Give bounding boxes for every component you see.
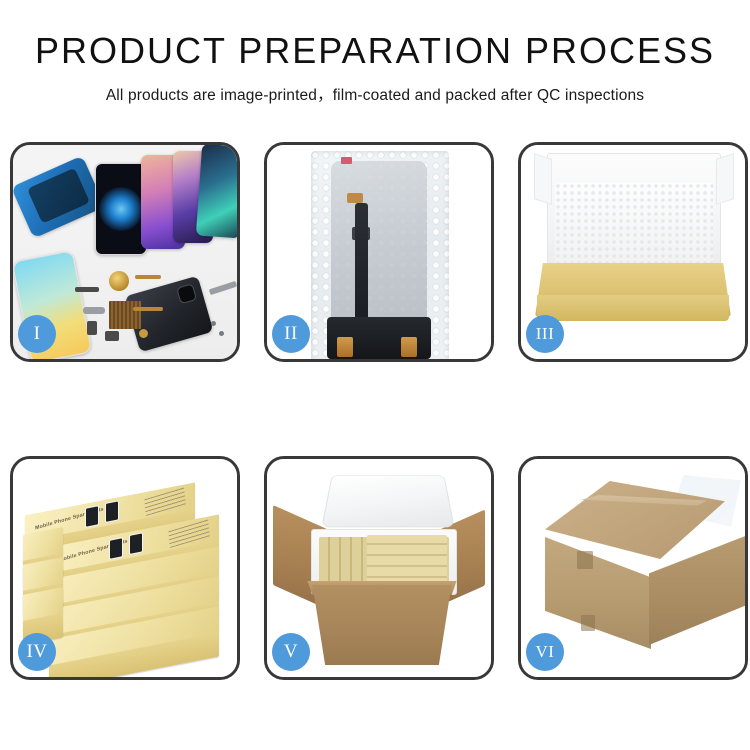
red-label-sticker-image [341,157,352,164]
retail-box-thumb-1a [85,505,99,528]
lcd-lower-assembly-image [327,317,431,359]
step-badge-5: V [272,633,310,671]
retail-box-thumb-2b [129,532,143,555]
blue-screen-protector-image [13,156,105,239]
earpiece-part-image [75,287,99,292]
page-title: PRODUCT PREPARATION PROCESS [0,33,750,69]
speaker-part-image [109,271,129,291]
step-badge-4: IV [18,633,56,671]
screw-gold-image [139,329,148,338]
gold-pad-left-image [337,337,353,357]
page-subtitle: All products are image-printed，film-coat… [0,83,750,105]
process-step-4[interactable]: Mobile Phone Spare Parts Mobile Phone Sp… [10,456,240,680]
carton-mark-top-image [577,551,593,569]
flex-cable-image [135,275,161,279]
gold-pad-right-image [401,337,417,357]
step-badge-3: III [526,315,564,353]
product-preparation-process-page: PRODUCT PREPARATION PROCESS All products… [0,0,750,750]
header: PRODUCT PREPARATION PROCESS All products… [0,0,750,105]
bubble-wrap-bag-image [311,151,449,359]
step-badge-2: II [272,315,310,353]
gold-inner-box-front-image [537,295,729,321]
button-part-image [87,321,97,335]
foam-sheet-image [555,183,713,273]
tool-image [209,281,237,295]
process-step-3[interactable]: III [518,142,748,362]
vibrator-part-image [83,307,105,314]
foam-lid-image [321,475,454,527]
carton-left-face-image [545,537,651,649]
teal-phone-image [196,145,237,238]
connector-board-image [109,301,141,329]
process-step-5[interactable]: V [264,456,494,680]
carton-front-image [303,585,461,665]
gold-boxes-row-2-image [367,535,447,587]
lcd-connector-image [347,193,363,203]
tempered-glass-image [95,163,147,255]
process-step-2[interactable]: II [264,142,494,362]
camera-part-image [105,331,119,341]
process-step-6[interactable]: VI [518,456,748,680]
process-step-grid: I II [10,142,748,682]
flex-cable-2-image [133,307,163,311]
step-badge-1: I [18,315,56,353]
screw-1-image [211,321,216,326]
carton-mark-bottom-image [581,615,595,631]
process-step-1[interactable]: I [10,142,240,362]
retail-box-thumb-2a [109,537,123,560]
step-badge-6: VI [526,633,564,671]
lcd-flex-cable-image [355,203,368,323]
screw-2-image [219,331,224,336]
retail-box-thumb-1b [105,500,119,523]
